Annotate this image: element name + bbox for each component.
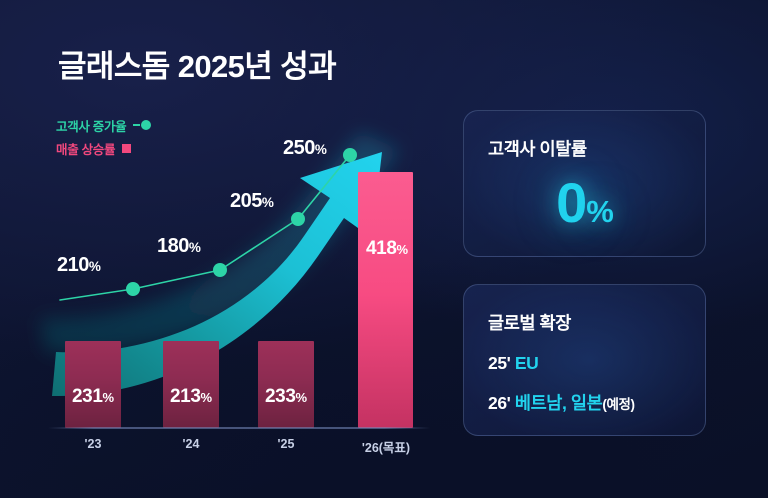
line-data-point xyxy=(126,282,140,296)
card-global-expansion: 글로벌 확장 25' EU 26' 베트남, 일본(예정) xyxy=(463,284,706,436)
expansion-region: EU xyxy=(515,353,539,373)
line-value-2023: 210% xyxy=(57,254,100,277)
bar-value-2026-target: 418% xyxy=(366,238,408,260)
growth-chart: 231% 213% 233% 418% 210% 180% 205% 250% … xyxy=(0,0,460,498)
bar-value-2024: 213% xyxy=(170,386,212,408)
line-value-2025: 205% xyxy=(230,190,273,213)
line-value-2026: 250% xyxy=(283,137,326,160)
line-data-point xyxy=(291,212,305,226)
x-axis-line xyxy=(48,427,430,429)
line-data-point xyxy=(343,148,357,162)
line-data-point xyxy=(213,263,227,277)
expansion-row-2025: 25' EU xyxy=(488,353,538,374)
infographic-canvas: 글래스돔 2025년 성과 고객사 증가율 매출 상승률 xyxy=(0,0,768,498)
card-churn-title: 고객사 이탈률 xyxy=(488,136,587,161)
expansion-region: 베트남, 일본 xyxy=(515,393,602,413)
card-churn-value: 0% xyxy=(464,170,705,235)
bar-2023 xyxy=(65,341,121,428)
bar-2026-target xyxy=(358,172,413,428)
expansion-note: (예정) xyxy=(602,397,634,412)
x-axis-label-2025: '25 xyxy=(258,437,314,451)
bar-value-2025: 233% xyxy=(265,386,307,408)
line-value-2024: 180% xyxy=(157,235,200,258)
expansion-year: 26' xyxy=(488,393,510,413)
bar-value-2023: 231% xyxy=(72,386,114,408)
card-expansion-title: 글로벌 확장 xyxy=(488,310,571,335)
bar-2024 xyxy=(163,341,219,428)
expansion-year: 25' xyxy=(488,353,510,373)
x-axis-label-2023: '23 xyxy=(65,437,121,451)
expansion-row-2026: 26' 베트남, 일본(예정) xyxy=(488,390,635,415)
x-axis-label-2026-target: '26(목표) xyxy=(343,437,429,456)
bar-2025 xyxy=(258,341,314,428)
x-axis-label-2024: '24 xyxy=(163,437,219,451)
card-churn-rate: 고객사 이탈률 0% xyxy=(463,110,706,257)
